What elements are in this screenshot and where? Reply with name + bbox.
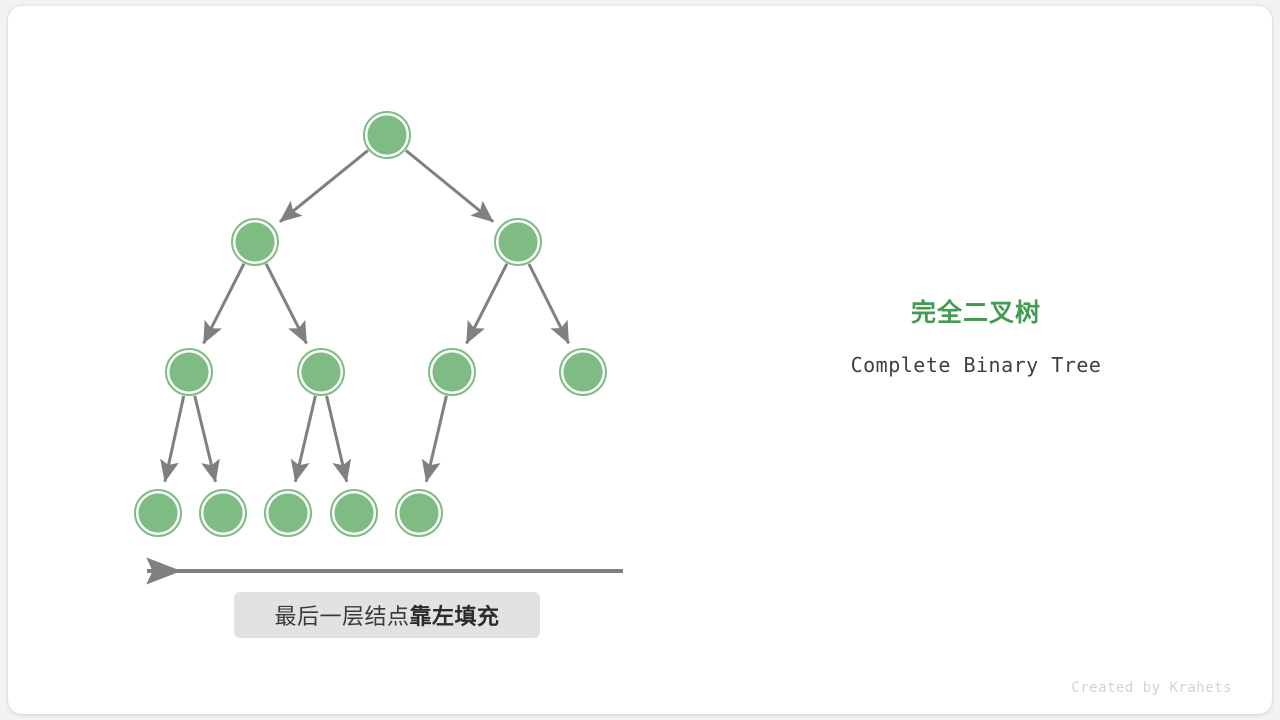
tree-edge (165, 396, 184, 482)
tree-node (331, 490, 377, 536)
tree-edge (406, 150, 493, 221)
page-title: 完全二叉树 (776, 298, 1176, 328)
tree-node-fill (138, 493, 177, 532)
tree-node (200, 490, 246, 536)
tree-edge (327, 396, 347, 482)
tree-node (396, 490, 442, 536)
tree-node (560, 349, 606, 395)
credit-label: Created by Krahets (1071, 680, 1232, 696)
tree-node-fill (399, 493, 438, 532)
tree-node (265, 490, 311, 536)
tree-edge (426, 396, 446, 482)
tree-node-fill (334, 493, 373, 532)
tree-edge (466, 264, 506, 344)
annotation-chip-label-normal: 最后一层结点 (274, 604, 409, 629)
tree-node (166, 349, 212, 395)
tree-node (429, 349, 475, 395)
tree-node-fill (268, 493, 307, 532)
tree-node (495, 219, 541, 265)
tree-node (135, 490, 181, 536)
annotation-chip-label-bold: 靠左填充 (410, 604, 500, 629)
tree-edge (280, 150, 368, 221)
tree-edge (295, 396, 315, 482)
tree-edge (203, 264, 243, 344)
tree-node-fill (432, 352, 471, 391)
tree-node-fill (563, 352, 602, 391)
diagram-canvas: 完全二叉树 Complete Binary Tree 最后一层结点靠左填充 Cr… (0, 0, 1280, 720)
tree-node-fill (367, 115, 406, 154)
tree-edges (165, 150, 569, 481)
tree-node-fill (169, 352, 208, 391)
tree-node (298, 349, 344, 395)
tree-node-fill (235, 222, 274, 261)
tree-node (232, 219, 278, 265)
tree-node (364, 112, 410, 158)
title-block: 完全二叉树 Complete Binary Tree (776, 298, 1176, 377)
tree-nodes (135, 112, 606, 536)
tree-edge (195, 396, 216, 482)
annotation-chip: 最后一层结点靠左填充 (234, 592, 540, 638)
tree-edge (266, 264, 306, 344)
diagram-card: 完全二叉树 Complete Binary Tree 最后一层结点靠左填充 Cr… (8, 6, 1272, 714)
page-subtitle: Complete Binary Tree (776, 328, 1176, 377)
tree-edge (529, 264, 569, 343)
tree-node-fill (203, 493, 242, 532)
tree-node-fill (301, 352, 340, 391)
annotation-chip-label: 最后一层结点靠左填充 (274, 599, 499, 631)
tree-node-fill (498, 222, 537, 261)
